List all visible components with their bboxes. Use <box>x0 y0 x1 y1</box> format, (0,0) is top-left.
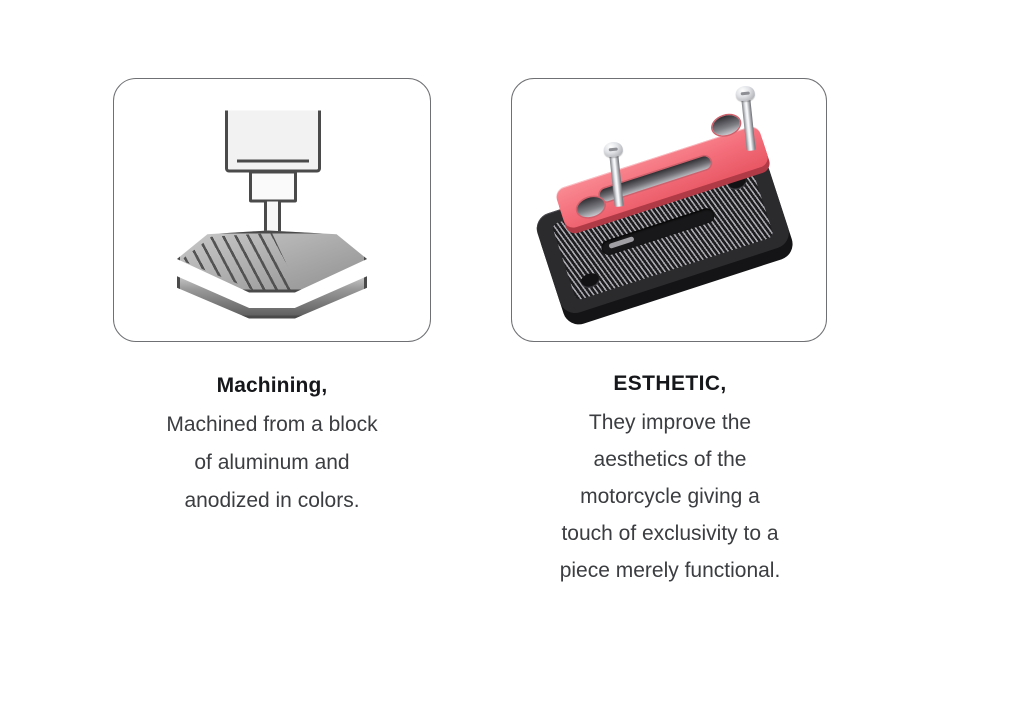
body-line: Machined from a block <box>102 406 442 444</box>
caption-machining: Machining, Machined from a block of alum… <box>102 372 442 520</box>
body-line: piece merely functional. <box>500 552 840 589</box>
body-line: motorcycle giving a <box>500 478 840 515</box>
image-card-esthetic <box>511 78 827 342</box>
body-line: They improve the <box>500 404 840 441</box>
block-top-outline <box>177 231 367 293</box>
body-line: of aluminum and <box>102 444 442 482</box>
anodized-plate-photo <box>512 79 826 341</box>
image-card-machining <box>113 78 431 342</box>
aluminum-block-icon <box>177 231 367 319</box>
body-line: aesthetics of the <box>500 441 840 478</box>
heading-esthetic: ESTHETIC, <box>500 370 840 398</box>
body-line: anodized in colors. <box>102 482 442 520</box>
body-line: touch of exclusivity to a <box>500 515 840 552</box>
cnc-machining-icon <box>114 79 430 341</box>
feature-panel: Machining, Machined from a block of alum… <box>0 0 1024 708</box>
caption-esthetic: ESTHETIC, They improve the aesthetics of… <box>500 370 840 589</box>
heading-machining: Machining, <box>102 372 442 400</box>
spindle-holder-icon <box>225 111 321 173</box>
collet-icon <box>249 171 297 203</box>
